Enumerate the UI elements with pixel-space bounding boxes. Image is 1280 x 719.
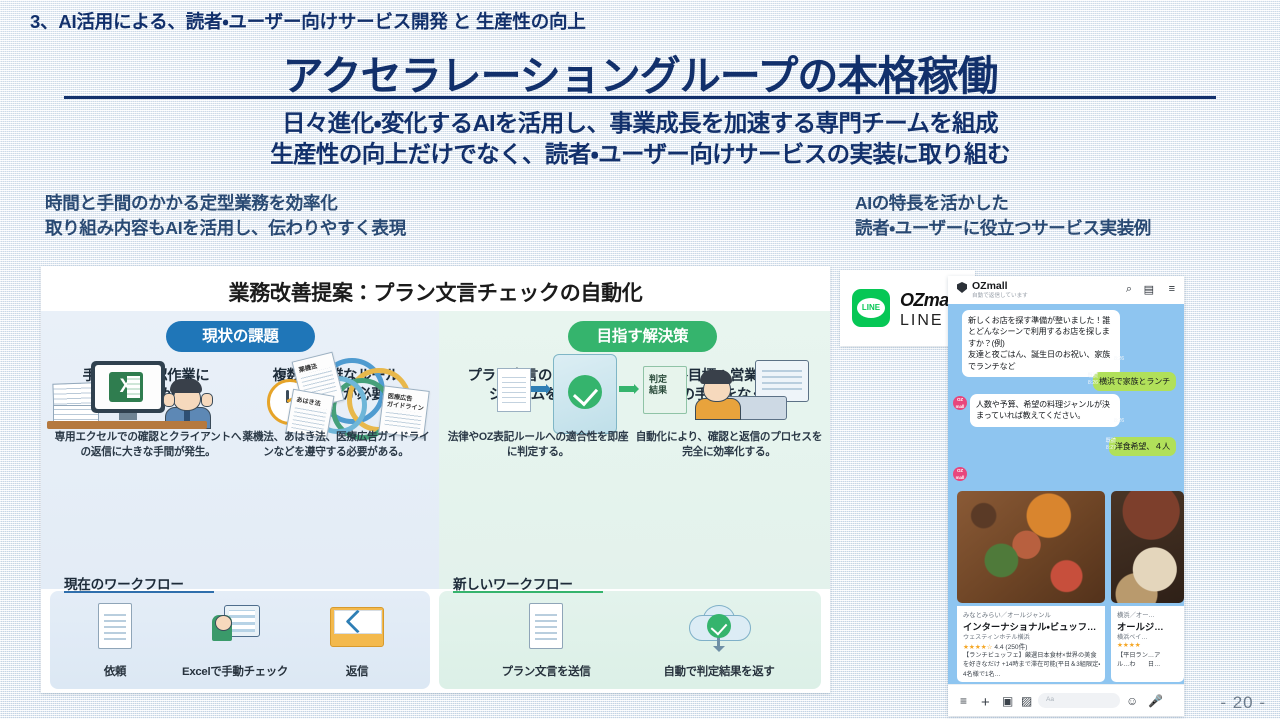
auto-judgement-illustration: 判定結果 — [497, 354, 687, 436]
avatar: OZmall — [953, 396, 967, 410]
camera-icon[interactable]: ▣ — [1002, 694, 1013, 708]
tangled-rules-illustration: 薬機法 あはき法 医療広告 ガイドライン — [289, 354, 429, 434]
restaurant-card-1[interactable]: みなとみらい／オールジャンル インターナショナル・ビュッフ… ウェスティンホテル… — [957, 606, 1105, 682]
chat-timestamp-2: 8:26 — [1114, 418, 1124, 425]
chat-account-status: 自動で返信しています — [972, 291, 1028, 299]
slide-canvas: 3、AI活用による、読者・ユーザー向けサービス開発 と 生産性の向上 アクセラレ… — [0, 0, 1280, 719]
chat-message-area: 新しくお店を探す準備が整いました！誰とどんなシーンで利用するお店を探しますか？(… — [948, 304, 1184, 486]
lead-line-2: 生産性の向上だけでなく、読者・ユーザー向けサービスの実装に取り組む — [0, 139, 1280, 170]
emoji-icon[interactable]: ☺ — [1126, 694, 1138, 708]
restaurant-category-1: みなとみらい／オールジャンル — [963, 610, 1051, 619]
chat-bubble-outgoing-1: 横浜で家族とランチ — [1093, 372, 1176, 391]
chat-bubble-incoming-2: 人数や予算、希望の料理ジャンルが決まっていれば教えてください。 — [970, 394, 1120, 427]
subhead-left-line-2: 取り組み内容もAIを活用し、伝わりやすく表現 — [45, 216, 406, 241]
badge-current-issues: 現状の課題 — [166, 321, 315, 352]
restaurant-place-2: 横浜ベイ… — [1117, 632, 1147, 641]
monitor-stand — [119, 413, 137, 420]
chat-input-bar: ≡ + ▣ ▨ Aa ☺ 🎤 — [948, 684, 1184, 716]
restaurant-name-2: オールジ… — [1117, 619, 1164, 633]
scanner-cube-icon — [553, 354, 617, 434]
subhead-right-line-1: AIの特長を活かした — [855, 191, 1151, 216]
desk-surface — [47, 421, 207, 429]
workflow-current: 現在のワークフロー 依頼 Excelで手動チェック 返信 — [50, 591, 430, 689]
message-input[interactable]: Aa — [1038, 693, 1120, 708]
restaurant-photo-row — [948, 486, 1184, 606]
workflow-current-underline — [64, 591, 214, 593]
plan-document-icon — [497, 368, 531, 412]
chat-read-status-1: 既読8:26 — [1088, 373, 1098, 386]
menu-icon[interactable]: ≡ — [1169, 283, 1175, 295]
excel-icon: X — [109, 372, 143, 402]
result-document-icon: 判定結果 — [643, 366, 687, 414]
cloud-check-icon — [689, 605, 749, 645]
subhead-right: AIの特長を活かした 読者・ユーザーに役立つサービス実装例 — [855, 191, 1151, 241]
relaxed-person-illustration — [691, 356, 811, 434]
verified-shield-icon — [957, 282, 967, 293]
line-chat-screenshot: OZmall 自動で返信しています ⌕ ▤ ≡ 新しくお店を探す準備が整いました… — [948, 276, 1184, 716]
subhead-left: 時間と手間のかかる定型業務を効率化 取り組み内容もAIを活用し、伝わりやすく表現 — [45, 191, 406, 241]
line-icon — [852, 289, 890, 327]
restaurant-place-1: ウェスティンホテル横浜 — [963, 632, 1030, 641]
subhead-right-line-2: 読者・ユーザーに役立つサービス実装例 — [855, 216, 1151, 241]
infographic-title: 業務改善提案：プラン文言チェックの自動化 — [41, 277, 830, 307]
title-divider — [64, 96, 1216, 99]
subhead-left-line-1: 時間と手間のかかる定型業務を効率化 — [45, 191, 406, 216]
chat-timestamp-1: 8:26 — [1114, 356, 1124, 363]
column-caption-3: 法律やOZ表記ルールへの適合性を即座に判定する。 — [445, 430, 631, 460]
microphone-icon[interactable]: 🎤 — [1148, 694, 1163, 708]
infographic-card: 業務改善提案：プラン文言チェックの自動化 現状の課題 目指す解決策 手動での確認… — [41, 266, 830, 693]
workflow-new: 新しいワークフロー プラン文言を送信 自動で判定結果を返す — [439, 591, 821, 689]
restaurant-card-row: みなとみらい／オールジャンル インターナショナル・ビュッフ… ウェスティンホテル… — [948, 606, 1184, 684]
restaurant-description-2: 【平日ラン…ア ル…わ 日… — [1117, 651, 1180, 670]
workflow-new-heading: 新しいワークフロー — [453, 573, 573, 593]
column-caption-1: 専用エクセルでの確認とクライアントへの返信に大きな手間が発生。 — [53, 430, 243, 460]
section-title: 3、AI活用による、読者・ユーザー向けサービス開発 と 生産性の向上 — [30, 8, 586, 34]
ozmall-service-text: LINE — [900, 312, 944, 330]
restaurant-rating-1: ★★★★☆ 4.4 (250件) — [963, 641, 1027, 651]
restaurant-category-2: 横浜／オー… — [1117, 610, 1155, 619]
restaurant-photo-1[interactable] — [957, 491, 1105, 603]
restaurant-rating-2: ★★★★ — [1117, 641, 1141, 649]
reply-envelope-icon — [330, 607, 384, 647]
restaurant-name-1: インターナショナル・ビュッフ… — [963, 619, 1096, 633]
page-number: - 20 - — [1220, 693, 1266, 713]
avatar-2: OZmall — [953, 467, 967, 481]
tired-person-icon — [165, 379, 209, 425]
column-caption-2: 薬機法、あはき法、医療広告ガイドラインなどを遵守する必要がある。 — [241, 430, 431, 460]
hamburger-icon[interactable]: ≡ — [960, 694, 967, 708]
restaurant-card-2[interactable]: 横浜／オー… オールジ… 横浜ベイ… ★★★★ 【平日ラン…ア ル…わ 日… — [1111, 606, 1184, 682]
chat-read-status-2: 既読8:27 — [1106, 438, 1116, 451]
arrow-right-green-icon — [619, 386, 635, 392]
chat-header: OZmall 自動で返信しています ⌕ ▤ ≡ — [948, 276, 1184, 305]
workflow-new-underline — [453, 591, 603, 593]
workflow-current-heading: 現在のワークフロー — [64, 573, 184, 593]
lead-text: 日々進化・変化するAIを活用し、事業成長を加速する専門チームを組成 生産性の向上… — [0, 108, 1280, 171]
notes-icon[interactable]: ▤ — [1144, 283, 1154, 296]
chat-bubble-outgoing-2: 洋食希望、４人 — [1109, 437, 1176, 456]
page-title: アクセラレーショングループの本格稼働 — [0, 42, 1280, 102]
image-icon[interactable]: ▨ — [1021, 694, 1032, 708]
relaxed-person-icon — [695, 370, 739, 416]
excel-worker-illustration: X — [91, 361, 201, 423]
check-circle-icon — [568, 375, 602, 409]
restaurant-photo-2[interactable] — [1111, 491, 1184, 603]
chat-bubble-incoming-1: 新しくお店を探す準備が整いました！誰とどんなシーンで利用するお店を探しますか？(… — [962, 310, 1120, 377]
restaurant-description-1: 【ランチビュッフェ】厳選日本食材×世界の美食を好きなだけ +14時まで滞在可能(… — [963, 651, 1101, 679]
badge-target-solution: 目指す解決策 — [568, 321, 717, 352]
arrow-right-blue-icon — [531, 386, 547, 392]
lead-line-1: 日々進化・変化するAIを活用し、事業成長を加速する専門チームを組成 — [0, 108, 1280, 139]
search-icon[interactable]: ⌕ — [1126, 283, 1132, 296]
plus-icon[interactable]: + — [981, 694, 990, 711]
monitor-icon: X — [91, 361, 165, 413]
column-caption-4: 自動化により、確認と返信のプロセスを完全に効率化する。 — [635, 430, 823, 460]
